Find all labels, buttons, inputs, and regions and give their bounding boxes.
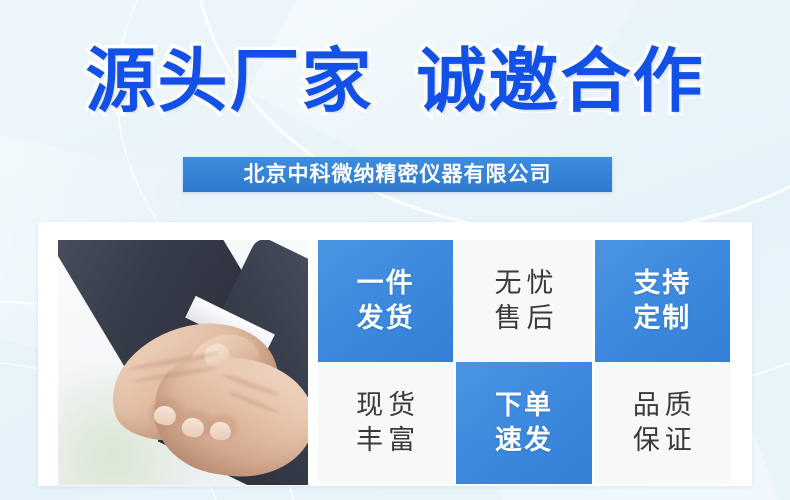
feature-line-2: 发货 — [357, 301, 415, 336]
feature-line-2: 定制 — [633, 301, 691, 336]
feature-cell-fast-dispatch[interactable]: 下单 速发 — [456, 362, 591, 484]
promo-banner: 源头厂家 诚邀合作 北京中科微纳精密仪器有限公司 — [0, 0, 790, 500]
feature-line-1: 现货 — [351, 388, 420, 423]
feature-cell-quality-guarantee[interactable]: 品质 保证 — [595, 362, 730, 484]
feature-line-2: 速发 — [495, 423, 553, 458]
feature-line-1: 支持 — [633, 266, 691, 301]
feature-cell-worry-free-aftersales[interactable]: 无忧 售后 — [456, 240, 591, 362]
feature-line-2: 保证 — [628, 423, 697, 458]
company-name-bar: 北京中科微纳精密仪器有限公司 — [183, 157, 612, 192]
feature-line-1: 品质 — [628, 388, 697, 423]
feature-cell-one-piece-shipping[interactable]: 一件 发货 — [318, 240, 453, 362]
feature-cell-ample-stock[interactable]: 现货 丰富 — [318, 362, 453, 484]
feature-line-1: 下单 — [495, 388, 553, 423]
page-title: 源头厂家 诚邀合作 — [0, 42, 790, 120]
feature-line-2: 售后 — [489, 301, 558, 336]
feature-line-1: 无忧 — [489, 266, 558, 301]
handshake-photo — [58, 240, 308, 485]
handshake-photo-frame — [58, 240, 308, 485]
feature-line-1: 一件 — [357, 266, 415, 301]
feature-cell-customization-support[interactable]: 支持 定制 — [595, 240, 730, 362]
feature-grid: 一件 发货 无忧 售后 支持 定制 现货 丰富 下单 速发 品质 保证 — [318, 240, 730, 484]
company-name-label: 北京中科微纳精密仪器有限公司 — [244, 164, 552, 185]
feature-line-2: 丰富 — [351, 423, 420, 458]
